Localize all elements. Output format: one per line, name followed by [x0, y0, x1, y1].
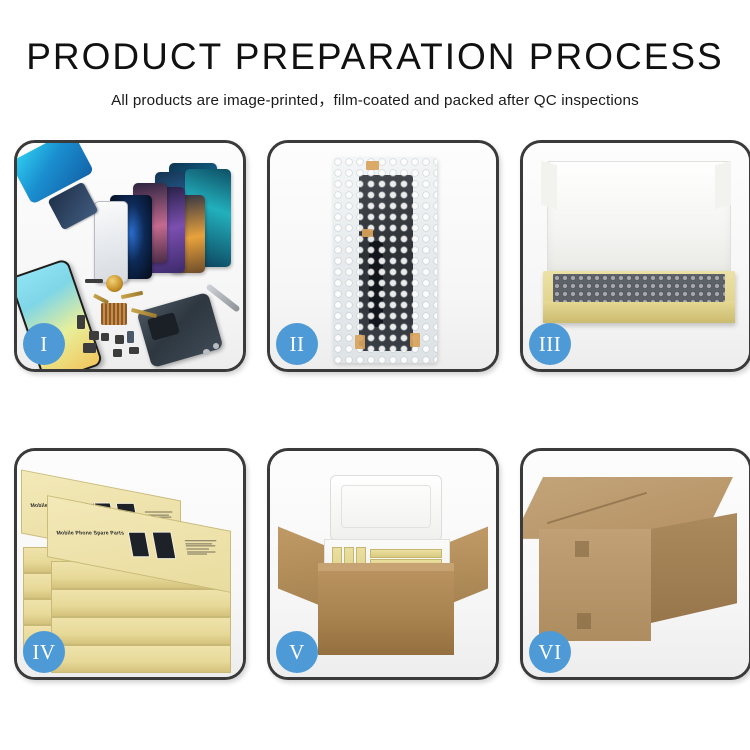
tape-bottom-left — [355, 335, 365, 349]
carton-front-face — [539, 529, 651, 641]
process-step-4: Mobile Phone Spare Parts Mobile Phone Sp… — [14, 448, 246, 680]
carton-side-face — [651, 513, 737, 623]
part-block-1 — [89, 331, 99, 340]
screw-1 — [203, 349, 210, 355]
part-block-6 — [77, 315, 85, 329]
lid-flap-left — [541, 161, 557, 210]
process-step-1: I — [14, 140, 246, 372]
stacked-box-front-4 — [51, 645, 231, 673]
tray-front-face — [543, 301, 735, 323]
page-title: PRODUCT PREPARATION PROCESS — [0, 38, 750, 77]
part-camera — [127, 331, 134, 343]
carton-tab-lower — [577, 613, 591, 629]
process-step-3: III — [520, 140, 750, 372]
process-step-2: II — [267, 140, 499, 372]
step-badge-1: I — [23, 323, 65, 365]
step-badge-5: V — [276, 631, 318, 673]
inner-box-4 — [370, 549, 442, 558]
box-thumb-front-1 — [128, 532, 150, 557]
header: PRODUCT PREPARATION PROCESS All products… — [0, 0, 750, 110]
box-thumb-front-2 — [152, 532, 177, 560]
bubble-wrap-bag — [333, 157, 437, 363]
tape-middle — [362, 229, 373, 237]
stacked-box-front-3 — [51, 617, 231, 645]
process-step-6: VI — [520, 448, 750, 680]
carton-body — [318, 571, 454, 655]
flex-cable-1 — [121, 291, 143, 299]
phone-back-housing — [136, 292, 223, 368]
bubble-texture — [333, 157, 437, 363]
ic-chip-part — [101, 303, 127, 325]
box-label-front: Mobile Phone Spare Parts — [56, 530, 125, 536]
box-spec-lines-front — [185, 540, 221, 556]
process-step-5: V — [267, 448, 499, 680]
speaker-coil-part — [106, 275, 123, 292]
part-block-7 — [113, 349, 122, 357]
carton-tab-upper — [575, 541, 589, 557]
part-block-5 — [129, 347, 139, 354]
infographic-page: PRODUCT PREPARATION PROCESS All products… — [0, 0, 750, 750]
step-badge-2: II — [276, 323, 318, 365]
part-block-3 — [101, 333, 109, 341]
step-badge-4: IV — [23, 631, 65, 673]
page-subtitle: All products are image-printed，film-coat… — [0, 88, 750, 110]
step-badge-3: III — [529, 323, 571, 365]
stacked-box-front-2 — [51, 589, 231, 617]
lid-flap-right — [715, 161, 731, 210]
box-lid-open — [547, 161, 731, 279]
screw-2 — [213, 343, 219, 349]
part-block-2 — [83, 343, 96, 353]
tempered-glass-protector — [94, 201, 128, 283]
part-block-4 — [115, 335, 124, 344]
step-badge-6: VI — [529, 631, 571, 673]
process-grid: I II — [14, 140, 736, 680]
tape-bottom-right — [410, 333, 420, 347]
bubble-wrapped-contents — [553, 274, 725, 302]
part-strip-1 — [85, 279, 103, 283]
styrofoam-lid — [330, 475, 442, 541]
tape-top — [366, 161, 379, 170]
